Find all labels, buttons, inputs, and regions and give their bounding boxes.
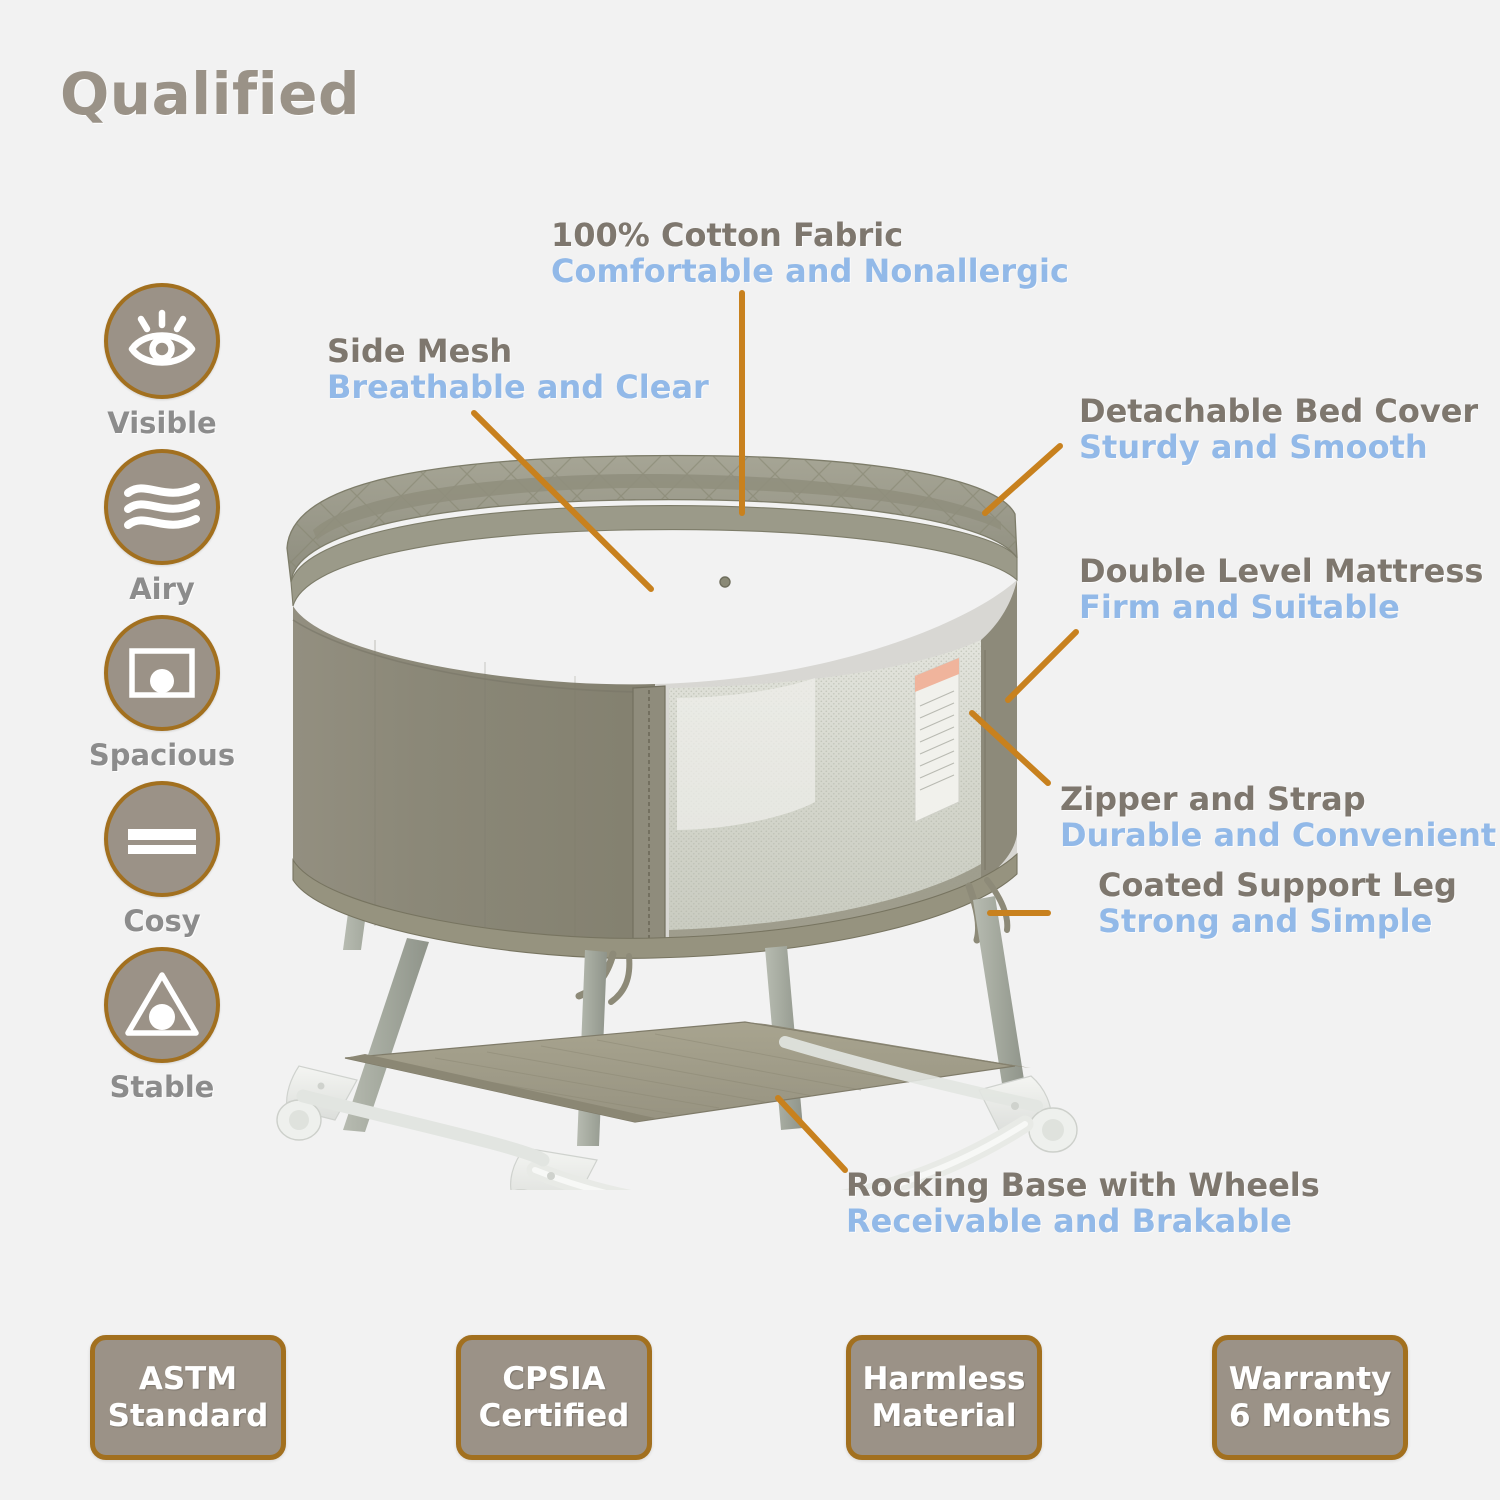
badge-circle bbox=[104, 283, 220, 399]
callout-title: Rocking Base with Wheels bbox=[846, 1168, 1320, 1204]
mattress-layers-icon bbox=[108, 785, 216, 893]
storage-shelf bbox=[345, 1022, 1031, 1122]
callout-subtitle: Sturdy and Smooth bbox=[1079, 430, 1478, 466]
product-label-card bbox=[915, 658, 959, 822]
callout-title: Side Mesh bbox=[327, 334, 709, 370]
callout-subtitle: Comfortable and Nonallergic bbox=[551, 254, 1069, 290]
certification-badge-list: ASTM Standard CPSIA Certified Harmless M… bbox=[0, 1335, 1500, 1470]
callout-cotton-fabric: 100% Cotton Fabric Comfortable and Nonal… bbox=[551, 218, 1069, 290]
callout-subtitle: Firm and Suitable bbox=[1079, 590, 1483, 626]
cert-badge-astm[interactable]: ASTM Standard bbox=[90, 1335, 286, 1460]
sidebar-item-label: Airy bbox=[78, 572, 246, 606]
callout-title: Detachable Bed Cover bbox=[1079, 394, 1478, 430]
cert-line-1: Warranty bbox=[1229, 1361, 1392, 1398]
callout-subtitle: Durable and Convenient bbox=[1060, 818, 1496, 854]
callout-subtitle: Receivable and Brakable bbox=[846, 1204, 1320, 1240]
sidebar-item-stable[interactable]: Stable bbox=[78, 947, 246, 1113]
cert-line-1: CPSIA bbox=[502, 1361, 605, 1398]
eye-icon bbox=[108, 287, 216, 395]
sidebar-item-label: Spacious bbox=[78, 738, 246, 772]
callout-bed-cover: Detachable Bed Cover Sturdy and Smooth bbox=[1079, 394, 1478, 466]
cert-line-2: Standard bbox=[108, 1398, 269, 1435]
callout-title: Coated Support Leg bbox=[1098, 868, 1457, 904]
badge-circle bbox=[104, 947, 220, 1063]
product-photo bbox=[225, 430, 1115, 1190]
feature-badge-list: Visible Airy Spacio bbox=[78, 283, 246, 1113]
infographic-canvas: Qualified bbox=[0, 0, 1500, 1500]
callout-double-level-mattress: Double Level Mattress Firm and Suitable bbox=[1079, 554, 1483, 626]
badge-circle bbox=[104, 615, 220, 731]
sidebar-item-cosy[interactable]: Cosy bbox=[78, 781, 246, 947]
sidebar-item-label: Stable bbox=[78, 1070, 246, 1104]
callout-coated-support-leg: Coated Support Leg Strong and Simple bbox=[1098, 868, 1457, 940]
cert-line-2: Certified bbox=[479, 1398, 630, 1435]
rectangle-circle-icon bbox=[108, 619, 216, 727]
triangle-circle-icon bbox=[108, 951, 216, 1059]
callout-title: Zipper and Strap bbox=[1060, 782, 1496, 818]
sidebar-item-label: Visible bbox=[78, 406, 246, 440]
callout-title: Double Level Mattress bbox=[1079, 554, 1483, 590]
bassinet-body bbox=[293, 580, 1017, 1002]
cert-line-1: Harmless bbox=[862, 1361, 1025, 1398]
wind-waves-icon bbox=[108, 453, 216, 561]
sidebar-item-label: Cosy bbox=[78, 904, 246, 938]
callout-title: 100% Cotton Fabric bbox=[551, 218, 1069, 254]
badge-circle bbox=[104, 449, 220, 565]
callout-subtitle: Strong and Simple bbox=[1098, 904, 1457, 940]
callout-rocking-base: Rocking Base with Wheels Receivable and … bbox=[846, 1168, 1320, 1240]
cert-line-2: 6 Months bbox=[1229, 1398, 1391, 1435]
cert-line-1: ASTM bbox=[139, 1361, 237, 1398]
badge-circle bbox=[104, 781, 220, 897]
cert-badge-warranty[interactable]: Warranty 6 Months bbox=[1212, 1335, 1408, 1460]
detachable-bed-cover bbox=[287, 456, 1017, 606]
sidebar-item-visible[interactable]: Visible bbox=[78, 283, 246, 449]
sidebar-item-spacious[interactable]: Spacious bbox=[78, 615, 246, 781]
sidebar-item-airy[interactable]: Airy bbox=[78, 449, 246, 615]
callout-zipper-strap: Zipper and Strap Durable and Convenient bbox=[1060, 782, 1496, 854]
cert-line-2: Material bbox=[871, 1398, 1016, 1435]
callout-subtitle: Breathable and Clear bbox=[327, 370, 709, 406]
page-title: Qualified bbox=[60, 60, 360, 128]
cert-badge-harmless-material[interactable]: Harmless Material bbox=[846, 1335, 1042, 1460]
cert-badge-cpsia[interactable]: CPSIA Certified bbox=[456, 1335, 652, 1460]
callout-side-mesh: Side Mesh Breathable and Clear bbox=[327, 334, 709, 406]
